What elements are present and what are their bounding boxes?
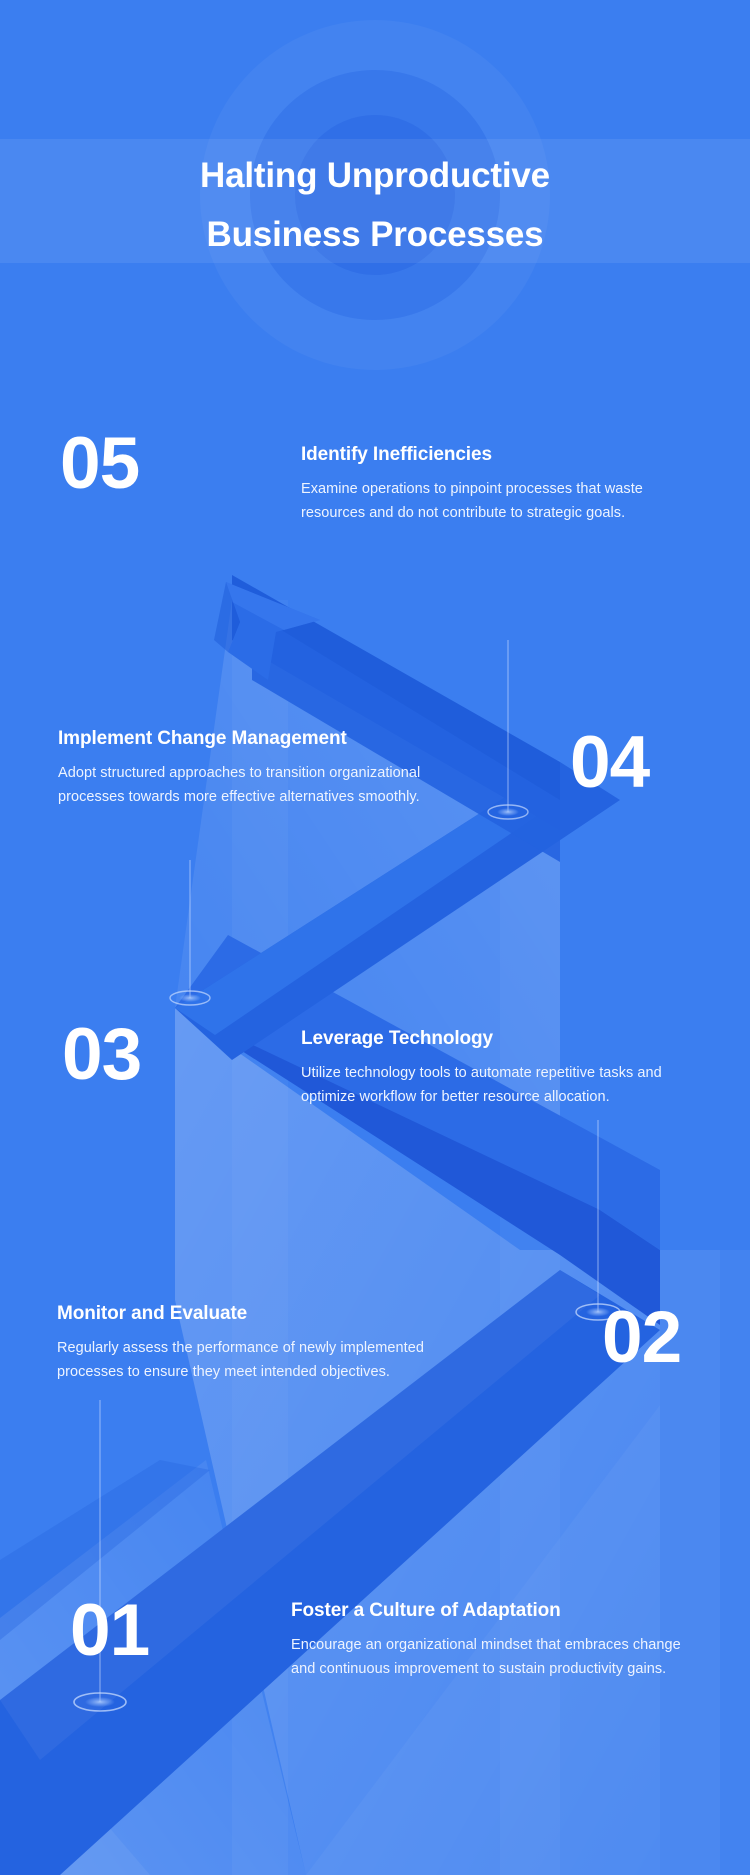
step-title-05: Identify Inefficiencies (301, 442, 691, 468)
step-number-02: 02 (602, 1301, 681, 1374)
step-description-01: Encourage an organizational mindset that… (291, 1633, 691, 1681)
step-content-05: Identify Inefficiencies Examine operatio… (301, 442, 691, 525)
step-content-01: Foster a Culture of Adaptation Encourage… (291, 1598, 691, 1681)
step-description-02: Regularly assess the performance of newl… (57, 1336, 439, 1384)
step-title-04: Implement Change Management (58, 726, 458, 752)
step-number-04: 04 (570, 726, 649, 799)
header: Halting Unproductive Business Processes (0, 0, 750, 360)
step-content-03: Leverage Technology Utilize technology t… (301, 1026, 696, 1109)
step-title-01: Foster a Culture of Adaptation (291, 1598, 691, 1624)
step-title-02: Monitor and Evaluate (57, 1301, 439, 1327)
step-content-04: Implement Change Management Adopt struct… (58, 726, 458, 809)
step-title-03: Leverage Technology (301, 1026, 696, 1052)
infographic-page: Halting Unproductive Business Processes … (0, 0, 750, 1875)
step-number-05: 05 (60, 427, 139, 500)
step-description-04: Adopt structured approaches to transitio… (58, 761, 458, 809)
step-content-02: Monitor and Evaluate Regularly assess th… (57, 1301, 439, 1384)
step-number-03: 03 (62, 1018, 141, 1091)
step-description-03: Utilize technology tools to automate rep… (301, 1061, 696, 1109)
step-description-05: Examine operations to pinpoint processes… (301, 477, 691, 525)
step-number-01: 01 (70, 1594, 149, 1667)
page-title: Halting Unproductive Business Processes (0, 146, 750, 264)
